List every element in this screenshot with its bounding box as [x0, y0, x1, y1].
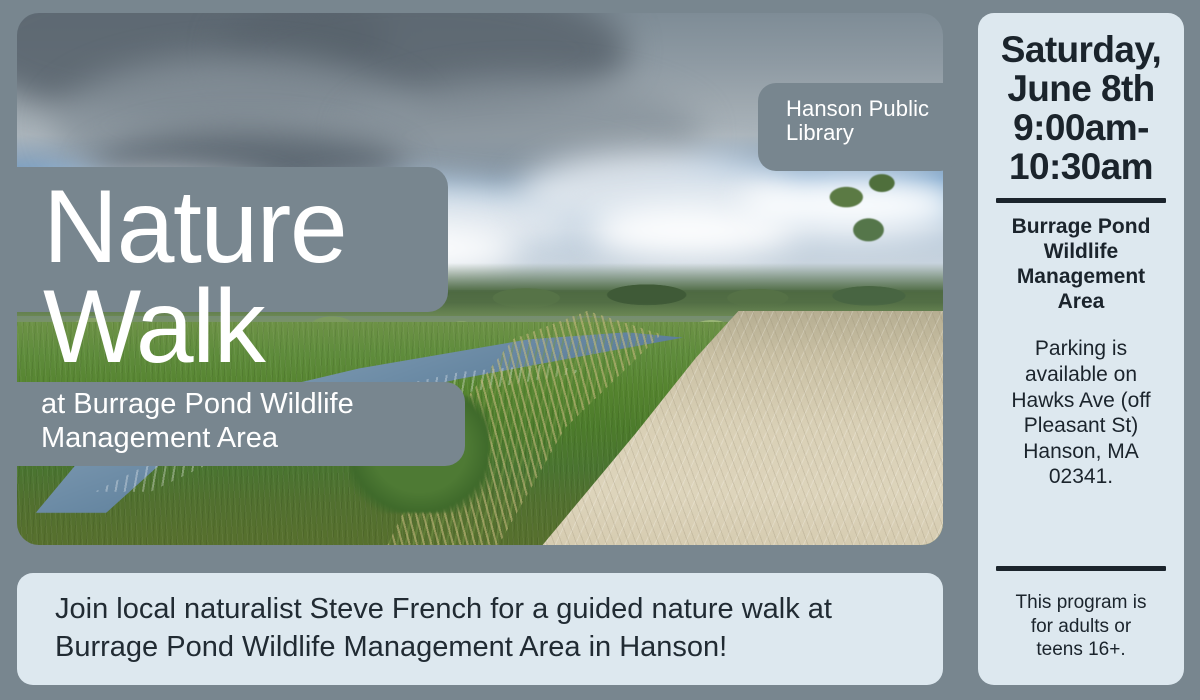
page-subtitle: at Burrage Pond Wildlife Management Area	[41, 388, 481, 455]
event-location: Burrage Pond Wildlife Management Area	[992, 215, 1170, 314]
page-title: Nature Walk	[43, 178, 473, 378]
parking-info: Parking is available on Hawks Ave (off P…	[992, 336, 1170, 490]
tree-right	[813, 162, 924, 279]
panel-spacer-bottom	[992, 661, 1170, 675]
details-panel: Saturday, June 8th 9:00am- 10:30am Burra…	[978, 13, 1184, 685]
event-flyer: Hanson Public Library Nature Walk at Bur…	[0, 0, 1200, 700]
organization-label: Hanson Public Library	[758, 83, 958, 171]
panel-spacer	[992, 490, 1170, 554]
description-card: Join local naturalist Steve French for a…	[17, 573, 943, 685]
audience-note: This program is for adults or teens 16+.	[992, 591, 1170, 661]
divider-bottom	[996, 566, 1166, 571]
divider-top	[996, 198, 1166, 203]
event-datetime: Saturday, June 8th 9:00am- 10:30am	[992, 31, 1170, 186]
description-text: Join local naturalist Steve French for a…	[55, 591, 832, 666]
